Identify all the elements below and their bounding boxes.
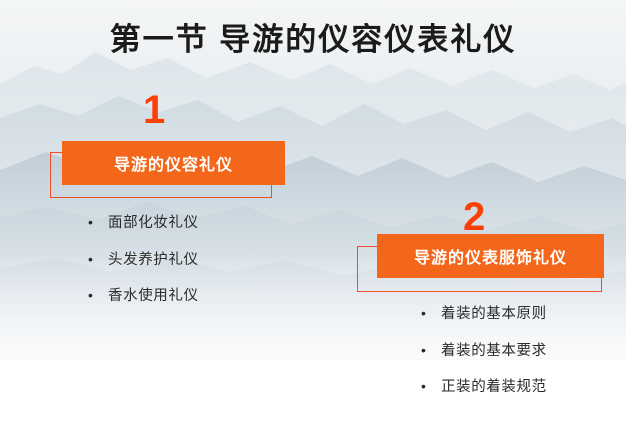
list-item-label: 面部化妆礼仪 [108,216,199,231]
list-item[interactable]: • 着装的基本要求 [421,343,547,359]
bullet-dot-icon: • [88,252,108,266]
bullet-dot-icon: • [421,379,441,393]
list-item[interactable]: • 香水使用礼仪 [88,288,199,304]
bullet-dot-icon: • [421,343,441,357]
section-2-title-label: 导游的仪表服饰礼仪 [414,244,567,268]
section-1-title-label: 导游的仪容礼仪 [114,151,233,175]
list-item-label: 香水使用礼仪 [108,289,199,304]
list-item-label: 正装的着装规范 [441,380,547,395]
section-2-title-box[interactable]: 导游的仪表服饰礼仪 [377,234,604,278]
list-item[interactable]: • 着装的基本原则 [421,306,547,322]
list-item-label: 头发养护礼仪 [108,253,199,268]
bullet-dot-icon: • [88,288,108,302]
section-1-bullet-list: • 面部化妆礼仪 • 头发养护礼仪 • 香水使用礼仪 [88,215,199,325]
bullet-dot-icon: • [88,215,108,229]
section-number-1: 1 [143,90,165,130]
slide-canvas: 第一节 导游的仪容仪表礼仪 1 导游的仪容礼仪 • 面部化妆礼仪 • 头发养护礼… [0,0,626,436]
list-item[interactable]: • 正装的着装规范 [421,379,547,395]
page-title: 第一节 导游的仪容仪表礼仪 [0,14,626,59]
section-1-title-box[interactable]: 导游的仪容礼仪 [62,141,285,185]
list-item-label: 着装的基本原则 [441,307,547,322]
list-item-label: 着装的基本要求 [441,344,547,359]
bullet-dot-icon: • [421,306,441,320]
section-number-2: 2 [463,197,485,237]
section-2-bullet-list: • 着装的基本原则 • 着装的基本要求 • 正装的着装规范 [421,306,547,416]
list-item[interactable]: • 头发养护礼仪 [88,252,199,268]
list-item[interactable]: • 面部化妆礼仪 [88,215,199,231]
